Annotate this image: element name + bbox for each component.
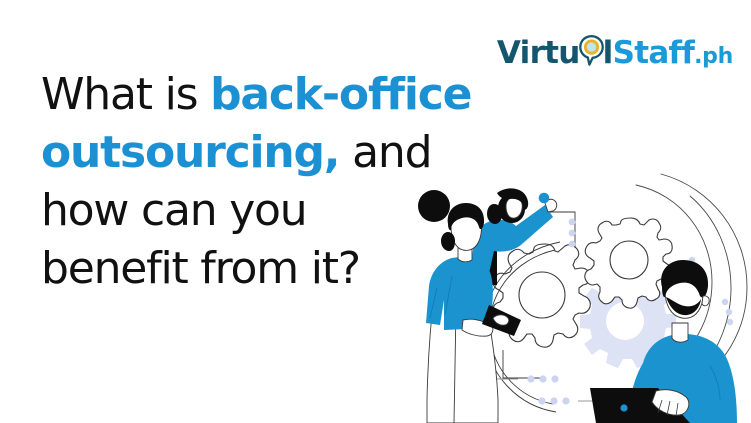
dot-clusters-bottom xyxy=(496,350,598,405)
logo-text-staff: Staff xyxy=(613,38,695,69)
headline-segment: What is xyxy=(41,69,210,120)
headline-segment: benefit from it? xyxy=(41,243,360,294)
logo-text-l: l xyxy=(603,38,613,69)
poster-canvas: Virtu l Staff .ph What is back-office ou… xyxy=(0,0,751,423)
accent-dot xyxy=(539,193,550,204)
logo-text-domain: .ph xyxy=(694,46,733,68)
headline-line-1: What is back-office xyxy=(41,66,511,124)
headline-segment: how can you xyxy=(41,185,306,236)
headline-segment-accent: outsourcing, xyxy=(41,127,339,178)
logo-wordmark: Virtu l Staff .ph xyxy=(497,32,733,69)
logo-text-virtu: Virtu xyxy=(497,38,580,69)
hero-illustration xyxy=(400,160,751,423)
headline-segment-accent: back-office xyxy=(210,69,471,120)
location-pin-sun-icon xyxy=(579,35,604,66)
brand-logo[interactable]: Virtu l Staff .ph xyxy=(497,28,733,72)
